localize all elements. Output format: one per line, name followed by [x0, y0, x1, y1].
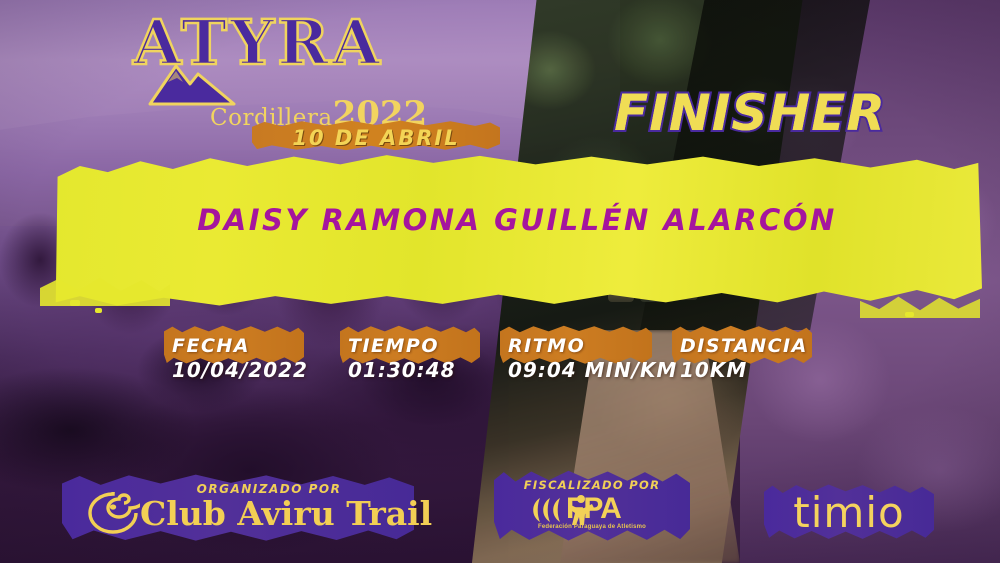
event-logo: ATYRA Cordillera2022 10 DE ABRIL — [118, 12, 398, 142]
finisher-badge: FINISHER — [600, 88, 900, 138]
event-date-label: 10 DE ABRIL — [252, 122, 500, 153]
stat-ritmo: RITMO 09:04 MIN/KM — [500, 325, 652, 391]
paint-speck — [905, 312, 914, 317]
paint-speck — [70, 300, 80, 306]
sponsor-platform[interactable]: timio — [764, 484, 934, 540]
stat-distancia: DISTANCIA 10KM — [672, 325, 812, 391]
stat-label: TIEMPO — [348, 335, 439, 357]
stat-value: 10/04/2022 — [172, 358, 308, 382]
stat-label: DISTANCIA — [680, 335, 808, 357]
sanctioner-kicker: FISCALIZADO POR — [494, 478, 690, 492]
sponsor-sanctioner[interactable]: FISCALIZADO POR FPA Federación Paraguaya… — [494, 470, 690, 542]
stat-value: 09:04 MIN/KM — [508, 358, 677, 382]
stat-tiempo: TIEMPO 01:30:48 — [340, 325, 480, 391]
sponsor-organizer[interactable]: ORGANIZADO POR Club Aviru Trail — [62, 474, 414, 542]
runner-name: DAISY RAMONA GUILLÉN ALARCÓN — [52, 203, 982, 237]
spiral-swirl-icon — [86, 492, 140, 534]
stat-label: FECHA — [172, 335, 250, 357]
finisher-certificate: ATYRA Cordillera2022 10 DE ABRIL FINISHE… — [0, 0, 1000, 563]
sanctioner-full-name: Federación Paraguaya de Atletismo — [494, 524, 690, 530]
stat-label: RITMO — [508, 335, 585, 357]
stat-value: 01:30:48 — [348, 358, 456, 382]
stat-fecha: FECHA 10/04/2022 — [164, 325, 304, 391]
stat-value: 10KM — [680, 358, 747, 382]
paint-speck — [95, 308, 102, 313]
organizer-name: Club Aviru Trail — [140, 494, 414, 533]
platform-name: timio — [764, 488, 934, 537]
sanctioner-acronym: FPA — [566, 492, 621, 526]
